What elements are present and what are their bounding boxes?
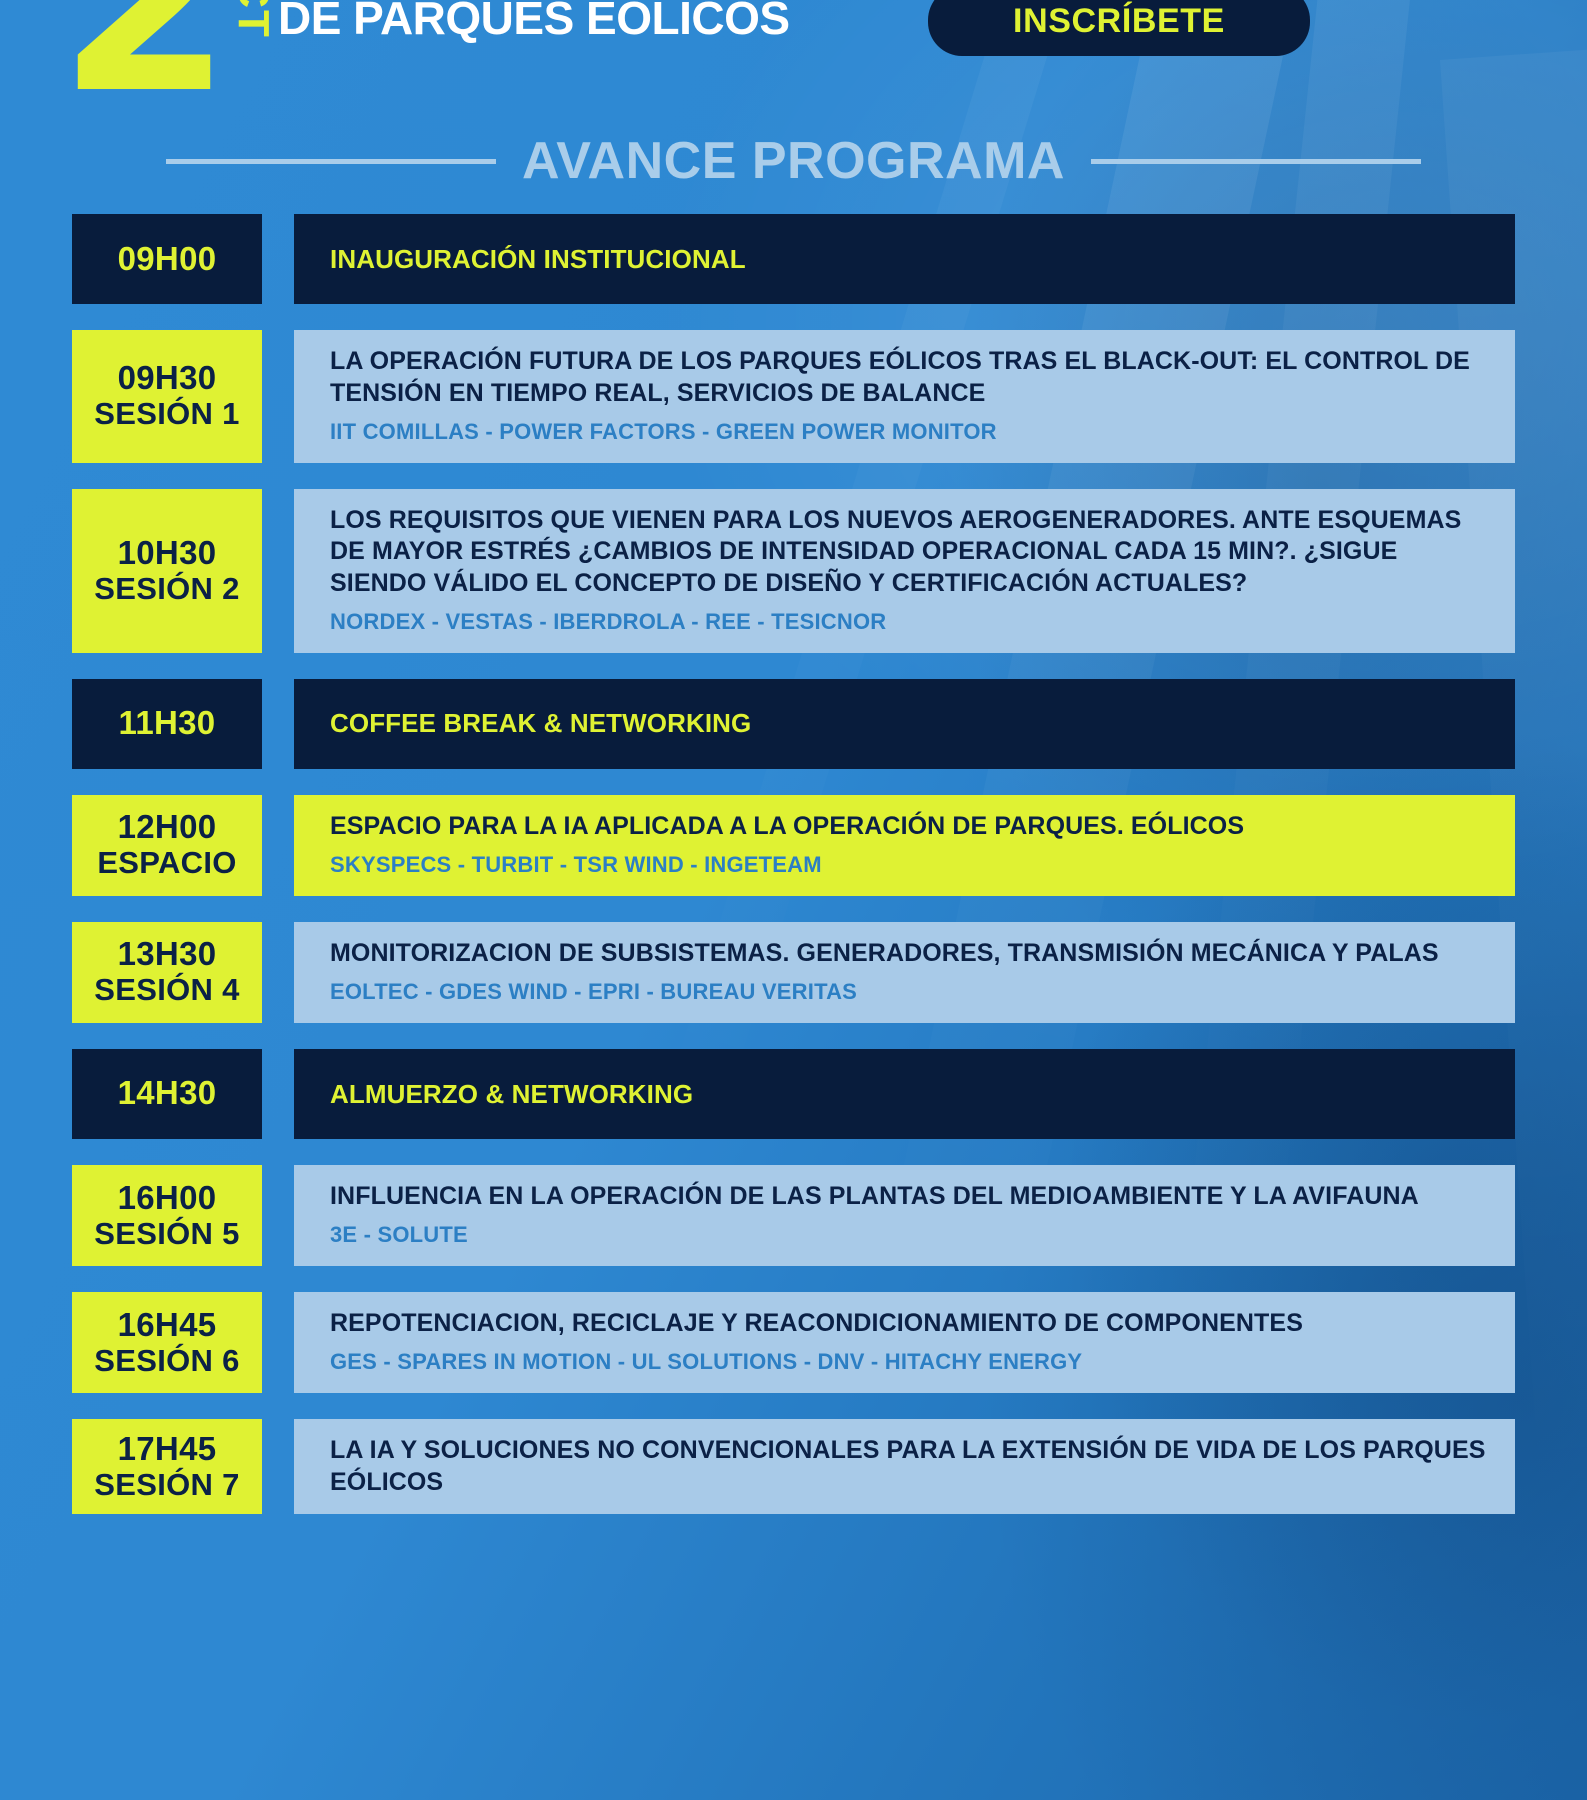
- agenda-content-panel: ESPACIO PARA LA IA APLICADA A LA OPERACI…: [294, 795, 1515, 896]
- agenda-time: 11H30: [119, 705, 216, 742]
- agenda-session-title: INFLUENCIA EN LA OPERACIÓN DE LAS PLANTA…: [330, 1181, 1489, 1213]
- agenda-time: 09H00: [118, 241, 217, 278]
- agenda-session-label: SESIÓN 1: [94, 397, 239, 432]
- agenda-time-chip: 12H00ESPACIO: [72, 795, 262, 896]
- agenda-row: 16H45SESIÓN 6REPOTENCIACION, RECICLAJE Y…: [72, 1292, 1515, 1393]
- agenda-content-panel: INAUGURACIÓN INSTITUCIONAL: [294, 214, 1515, 304]
- agenda-organizations: SKYSPECS - TURBIT - TSR WIND - INGETEAM: [330, 851, 1489, 880]
- section-title: AVANCE PROGRAMA: [522, 131, 1065, 191]
- agenda-time-chip: 09H30SESIÓN 1: [72, 330, 262, 463]
- agenda-content-panel: COFFEE BREAK & NETWORKING: [294, 679, 1515, 769]
- poster-page: 2 OCT ANÁLISIS OPERATIVO DE PARQUES EÓLI…: [0, 0, 1587, 1800]
- agenda-session-label: SESIÓN 5: [94, 1217, 239, 1252]
- agenda-row: 13H30SESIÓN 4MONITORIZACION DE SUBSISTEM…: [72, 922, 1515, 1023]
- agenda-time: 16H00: [118, 1180, 217, 1217]
- agenda-content-panel: MONITORIZACION DE SUBSISTEMAS. GENERADOR…: [294, 922, 1515, 1023]
- masthead: 2 OCT ANÁLISIS OPERATIVO DE PARQUES EÓLI…: [0, 0, 1587, 96]
- agenda-session-label: SESIÓN 7: [94, 1468, 239, 1503]
- agenda-time: 14H30: [118, 1075, 217, 1112]
- agenda-session-title: ALMUERZO & NETWORKING: [330, 1078, 1489, 1111]
- agenda-row: 16H00SESIÓN 5INFLUENCIA EN LA OPERACIÓN …: [72, 1165, 1515, 1266]
- agenda-organizations: GES - SPARES IN MOTION - UL SOLUTIONS - …: [330, 1348, 1489, 1377]
- agenda-time-chip: 16H45SESIÓN 6: [72, 1292, 262, 1393]
- agenda-session-label: SESIÓN 2: [94, 572, 239, 607]
- agenda-time-chip: 13H30SESIÓN 4: [72, 922, 262, 1023]
- register-button[interactable]: INSCRÍBETE: [928, 0, 1310, 56]
- agenda-content-panel: REPOTENCIACION, RECICLAJE Y REACONDICION…: [294, 1292, 1515, 1393]
- agenda-session-title: LOS REQUISITOS QUE VIENEN PARA LOS NUEVO…: [330, 505, 1489, 600]
- agenda-row: 10H30SESIÓN 2LOS REQUISITOS QUE VIENEN P…: [72, 489, 1515, 653]
- agenda-time-chip: 11H30: [72, 679, 262, 769]
- agenda-row: 11H30COFFEE BREAK & NETWORKING: [72, 679, 1515, 769]
- page-title-line-2: DE PARQUES EÓLICOS: [278, 0, 790, 43]
- agenda-session-title: MONITORIZACION DE SUBSISTEMAS. GENERADOR…: [330, 938, 1489, 970]
- agenda-time-chip: 09H00: [72, 214, 262, 304]
- event-month-label: OCT: [228, 0, 278, 39]
- agenda-organizations: EOLTEC - GDES WIND - EPRI - BUREAU VERIT…: [330, 978, 1489, 1007]
- agenda-row: 09H30SESIÓN 1LA OPERACIÓN FUTURA DE LOS …: [72, 330, 1515, 463]
- agenda-organizations: IIT COMILLAS - POWER FACTORS - GREEN POW…: [330, 418, 1489, 447]
- agenda-organizations: 3E - SOLUTE: [330, 1221, 1489, 1250]
- agenda-session-title: LA IA Y SOLUCIONES NO CONVENCIONALES PAR…: [330, 1435, 1489, 1498]
- agenda-session-title: LA OPERACIÓN FUTURA DE LOS PARQUES EÓLIC…: [330, 346, 1489, 409]
- agenda-content-panel: ALMUERZO & NETWORKING: [294, 1049, 1515, 1139]
- agenda-content-panel: LOS REQUISITOS QUE VIENEN PARA LOS NUEVO…: [294, 489, 1515, 653]
- agenda-list: 09H00INAUGURACIÓN INSTITUCIONAL09H30SESI…: [0, 200, 1587, 1514]
- agenda-session-title: INAUGURACIÓN INSTITUCIONAL: [330, 243, 1489, 276]
- agenda-content-panel: LA IA Y SOLUCIONES NO CONVENCIONALES PAR…: [294, 1419, 1515, 1514]
- agenda-time: 09H30: [118, 360, 217, 397]
- agenda-time-chip: 10H30SESIÓN 2: [72, 489, 262, 653]
- page-title: ANÁLISIS OPERATIVO DE PARQUES EÓLICOS: [278, 0, 790, 43]
- agenda-session-title: REPOTENCIACION, RECICLAJE Y REACONDICION…: [330, 1308, 1489, 1340]
- agenda-time: 13H30: [118, 936, 217, 973]
- agenda-session-title: ESPACIO PARA LA IA APLICADA A LA OPERACI…: [330, 811, 1489, 843]
- agenda-session-label: SESIÓN 4: [94, 973, 239, 1008]
- agenda-session-label: SESIÓN 6: [94, 1344, 239, 1379]
- agenda-session-title: COFFEE BREAK & NETWORKING: [330, 707, 1489, 740]
- agenda-time: 10H30: [118, 535, 217, 572]
- section-heading: AVANCE PROGRAMA: [0, 122, 1587, 200]
- agenda-time: 17H45: [118, 1431, 217, 1468]
- agenda-row: 09H00INAUGURACIÓN INSTITUCIONAL: [72, 214, 1515, 304]
- agenda-row: 17H45SESIÓN 7LA IA Y SOLUCIONES NO CONVE…: [72, 1419, 1515, 1514]
- agenda-time: 12H00: [118, 809, 217, 846]
- agenda-time: 16H45: [118, 1307, 217, 1344]
- agenda-session-label: ESPACIO: [97, 846, 236, 881]
- agenda-time-chip: 14H30: [72, 1049, 262, 1139]
- event-date-number: 2: [58, 0, 222, 128]
- agenda-content-panel: LA OPERACIÓN FUTURA DE LOS PARQUES EÓLIC…: [294, 330, 1515, 463]
- agenda-time-chip: 16H00SESIÓN 5: [72, 1165, 262, 1266]
- agenda-organizations: NORDEX - VESTAS - IBERDROLA - REE - TESI…: [330, 608, 1489, 637]
- register-button-label: INSCRÍBETE: [1013, 2, 1225, 41]
- agenda-content-panel: INFLUENCIA EN LA OPERACIÓN DE LAS PLANTA…: [294, 1165, 1515, 1266]
- agenda-time-chip: 17H45SESIÓN 7: [72, 1419, 262, 1514]
- heading-rule-left: [166, 159, 496, 164]
- heading-rule-right: [1091, 159, 1421, 164]
- agenda-row: 14H30ALMUERZO & NETWORKING: [72, 1049, 1515, 1139]
- agenda-row: 12H00ESPACIOESPACIO PARA LA IA APLICADA …: [72, 795, 1515, 896]
